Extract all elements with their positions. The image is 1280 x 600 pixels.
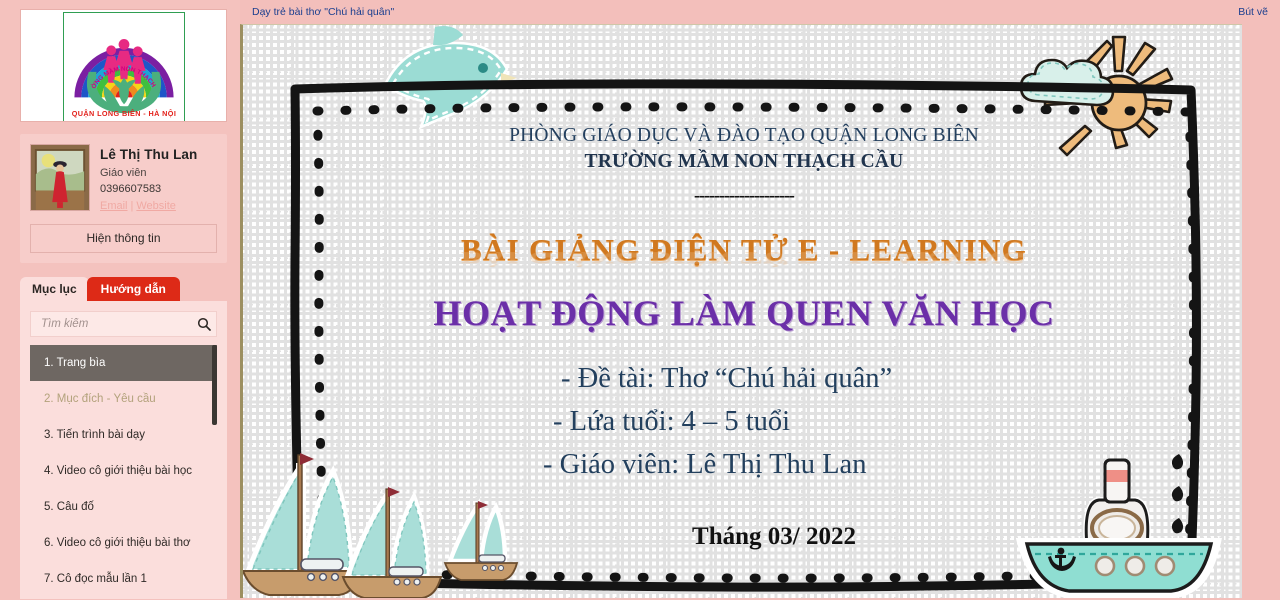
slide-detail-lines: - Đề tài: Thơ “Chú hải quân” - Lứa tuổi:… bbox=[543, 357, 892, 486]
pen-tool-button[interactable]: Bút vẽ bbox=[1238, 6, 1268, 18]
toc-item-7[interactable]: 7. Cô đọc mẫu lần 1 bbox=[30, 561, 217, 595]
search-icon[interactable] bbox=[197, 317, 211, 331]
school-logo-card: TRƯỜNG MẦM NON THẠCH CẦU QUẬN LONG BIÊN … bbox=[20, 9, 227, 122]
slide-divider: -------------------- bbox=[243, 185, 1242, 206]
slide-text-content: PHÒNG GIÁO DỤC VÀ ĐÀO TẠO QUẬN LONG BIÊN… bbox=[243, 25, 1242, 598]
avatar-photo-icon bbox=[31, 145, 89, 210]
slide-canvas: PHÒNG GIÁO DỤC VÀ ĐÀO TẠO QUẬN LONG BIÊN… bbox=[240, 24, 1242, 598]
toc-item-3[interactable]: 3. Tiến trình bài dạy bbox=[30, 417, 217, 453]
logo-caption: QUẬN LONG BIÊN - HÀ NỘI bbox=[71, 109, 176, 118]
slide-title-elearning: BÀI GIẢNG ĐIỆN TỬ E - LEARNING bbox=[243, 232, 1242, 268]
teacher-name: Lê Thị Thu Lan bbox=[100, 146, 197, 163]
show-info-button[interactable]: Hiện thông tin bbox=[30, 224, 217, 253]
tab-muc-luc[interactable]: Mục lục bbox=[20, 277, 89, 301]
toc-item-5[interactable]: 5. Câu đố bbox=[30, 489, 217, 525]
teacher-profile-card: Lê Thị Thu Lan Giáo viên 0396607583 Emai… bbox=[20, 134, 227, 263]
slide-title-activity: HOẠT ĐỘNG LÀM QUEN VĂN HỌC bbox=[243, 292, 1242, 334]
main-area: Dạy trẻ bài thơ "Chú hải quân" Bút vẽ bbox=[240, 0, 1280, 600]
slide-detail-teacher: - Giáo viên: Lê Thị Thu Lan bbox=[543, 443, 892, 486]
topbar: Dạy trẻ bài thơ "Chú hải quân" Bút vẽ bbox=[240, 0, 1280, 24]
slide-detail-topic: - Đề tài: Thơ “Chú hải quân” bbox=[543, 357, 892, 400]
avatar bbox=[30, 144, 90, 211]
email-link[interactable]: Email bbox=[100, 200, 128, 212]
slide-date: Tháng 03/ 2022 bbox=[243, 523, 1242, 551]
elearning-player: TRƯỜNG MẦM NON THẠCH CẦU QUẬN LONG BIÊN … bbox=[0, 0, 1280, 600]
toc-item-4[interactable]: 4. Video cô giới thiệu bài học bbox=[30, 453, 217, 489]
teacher-role: Giáo viên bbox=[100, 165, 197, 181]
sidebar: TRƯỜNG MẦM NON THẠCH CẦU QUẬN LONG BIÊN … bbox=[0, 0, 240, 600]
toc-item-6[interactable]: 6. Video cô giới thiệu bài thơ bbox=[30, 525, 217, 561]
tab-huong-dan[interactable]: Hướng dẫn bbox=[87, 277, 180, 301]
toc-scrollbar-thumb[interactable] bbox=[212, 345, 217, 425]
slide-detail-age: - Lứa tuổi: 4 – 5 tuổi bbox=[543, 400, 892, 443]
sidebar-tabs: Mục lục Hướng dẫn bbox=[20, 277, 240, 301]
school-logo-icon: TRƯỜNG MẦM NON THẠCH CẦU QUẬN LONG BIÊN … bbox=[64, 13, 184, 121]
website-link[interactable]: Website bbox=[136, 200, 176, 212]
search-input[interactable] bbox=[41, 312, 197, 336]
search-row[interactable] bbox=[30, 311, 217, 337]
toc-panel: 1. Trang bìa 2. Mục đích - Yêu cầu 3. Ti… bbox=[20, 301, 227, 599]
slide-org-line-2: TRƯỜNG MẦM NON THẠCH CẦU bbox=[243, 151, 1242, 173]
teacher-phone: 0396607583 bbox=[100, 181, 197, 197]
toc-scrollbar[interactable] bbox=[212, 345, 217, 595]
toc-item-1[interactable]: 1. Trang bìa bbox=[30, 345, 217, 381]
slide-org-line-1: PHÒNG GIÁO DỤC VÀ ĐÀO TẠO QUẬN LONG BIÊN bbox=[243, 125, 1242, 147]
lesson-title: Dạy trẻ bài thơ "Chú hải quân" bbox=[252, 6, 394, 18]
toc-item-2[interactable]: 2. Mục đích - Yêu cầu bbox=[30, 381, 217, 417]
school-logo: TRƯỜNG MẦM NON THẠCH CẦU QUẬN LONG BIÊN … bbox=[63, 12, 185, 122]
toc-list[interactable]: 1. Trang bìa 2. Mục đích - Yêu cầu 3. Ti… bbox=[30, 345, 217, 595]
